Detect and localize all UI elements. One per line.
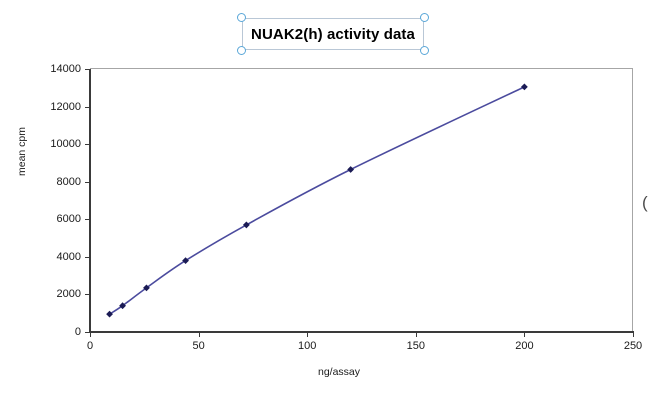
y-tick-label: 6000 <box>57 213 81 225</box>
clipped-right-edge-glyph: ( <box>642 193 650 213</box>
chart-title-selection[interactable]: NUAK2(h) activity data <box>242 18 424 50</box>
y-axis-label: mean cpm <box>16 127 28 176</box>
plot-area[interactable]: 02000400060008000100001200014000 0501001… <box>90 69 633 332</box>
data-point-marker[interactable] <box>521 83 528 90</box>
data-series-layer <box>90 69 633 332</box>
x-tick-mark <box>199 332 200 337</box>
series-line <box>110 87 525 314</box>
chart-object[interactable]: NUAK2(h) activity data 02000400060008000… <box>0 0 650 407</box>
data-point-marker[interactable] <box>243 222 250 229</box>
x-tick-label: 200 <box>515 340 533 352</box>
x-tick-mark <box>524 332 525 337</box>
selection-handle-top-left[interactable] <box>237 13 246 22</box>
series-markers <box>106 83 528 317</box>
chart-title[interactable]: NUAK2(h) activity data <box>242 18 424 50</box>
x-axis-label-text: ng/assay <box>318 366 360 378</box>
x-tick-label: 250 <box>624 340 642 352</box>
x-axis-label: ng/assay <box>0 366 650 378</box>
y-tick-label: 2000 <box>57 288 81 300</box>
selection-handle-bottom-left[interactable] <box>237 46 246 55</box>
y-tick-label: 8000 <box>57 176 81 188</box>
x-tick-mark <box>416 332 417 337</box>
x-tick-mark <box>90 332 91 337</box>
x-tick-label: 0 <box>87 340 93 352</box>
x-tick-mark <box>307 332 308 337</box>
x-tick-label: 50 <box>192 340 204 352</box>
y-tick-label: 14000 <box>50 63 81 75</box>
selection-handle-top-right[interactable] <box>420 13 429 22</box>
x-tick-mark <box>633 332 634 337</box>
x-tick-label: 100 <box>298 340 316 352</box>
x-tick-label: 150 <box>407 340 425 352</box>
y-tick-label: 0 <box>75 326 81 338</box>
y-tick-label: 10000 <box>50 138 81 150</box>
selection-handle-bottom-right[interactable] <box>420 46 429 55</box>
data-point-marker[interactable] <box>347 166 354 173</box>
y-tick-label: 4000 <box>57 251 81 263</box>
y-tick-label: 12000 <box>50 101 81 113</box>
